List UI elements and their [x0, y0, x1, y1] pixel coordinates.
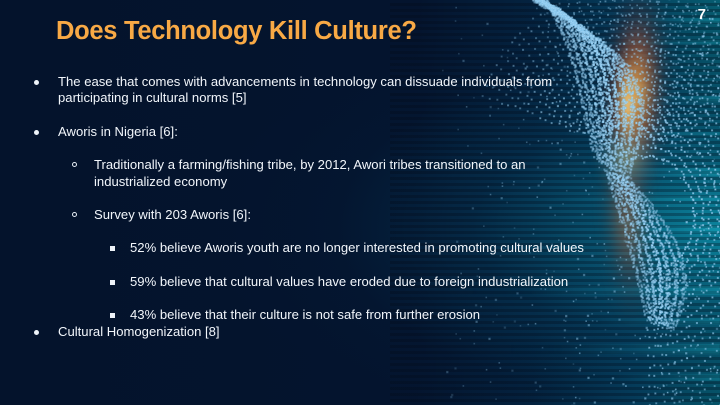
orange-plume-glow-lower	[596, 109, 657, 332]
bullet-text: 59% believe that cultural values have er…	[130, 274, 600, 290]
bullet-marker-filled-circle	[34, 130, 39, 135]
bullet-marker-hollow-circle	[72, 212, 77, 217]
bullet-text: Cultural Homogenization [8]	[58, 324, 600, 340]
bullet-text: The ease that comes with advancements in…	[58, 74, 600, 107]
bullet-text: Traditionally a farming/fishing tribe, b…	[94, 157, 600, 190]
bullet-text: Survey with 203 Aworis [6]:	[94, 207, 600, 223]
bullet-marker-filled-square	[110, 280, 115, 285]
slide-title: Does Technology Kill Culture?	[56, 17, 417, 46]
bullet-text: Aworis in Nigeria [6]:	[58, 124, 600, 140]
orange-plume-glow	[594, 0, 676, 212]
bullet-item: 43% believe that their culture is not sa…	[0, 307, 600, 323]
bullet-item: The ease that comes with advancements in…	[0, 74, 600, 107]
bullet-item: Traditionally a farming/fishing tribe, b…	[0, 157, 600, 190]
bullet-text: 43% believe that their culture is not sa…	[130, 307, 600, 323]
bullet-item: Aworis in Nigeria [6]:	[0, 124, 600, 140]
bullet-list: The ease that comes with advancements in…	[0, 74, 600, 340]
presentation-slide: 7 Does Technology Kill Culture? The ease…	[0, 0, 720, 405]
bullet-text: 52% believe Aworis youth are no longer i…	[130, 240, 600, 256]
plume-hot-core	[618, 60, 636, 150]
page-number: 7	[698, 6, 706, 23]
bullet-marker-filled-square	[110, 246, 115, 251]
bullet-item: Survey with 203 Aworis [6]:	[0, 207, 600, 223]
cyan-yellow-glow	[596, 122, 656, 192]
light-streak	[590, 226, 720, 233]
bullet-marker-filled-circle	[34, 80, 39, 85]
bullet-marker-hollow-circle	[72, 162, 77, 167]
bullet-marker-filled-square	[110, 313, 115, 318]
light-streak	[620, 96, 720, 102]
bullet-item: 59% believe that cultural values have er…	[0, 274, 600, 290]
light-streak	[505, 344, 720, 354]
light-streak	[550, 40, 720, 44]
light-streak	[580, 374, 720, 381]
bullet-item: Cultural Homogenization [8]	[0, 324, 600, 340]
bullet-marker-filled-circle	[34, 330, 39, 335]
bullet-item: 52% believe Aworis youth are no longer i…	[0, 240, 600, 256]
